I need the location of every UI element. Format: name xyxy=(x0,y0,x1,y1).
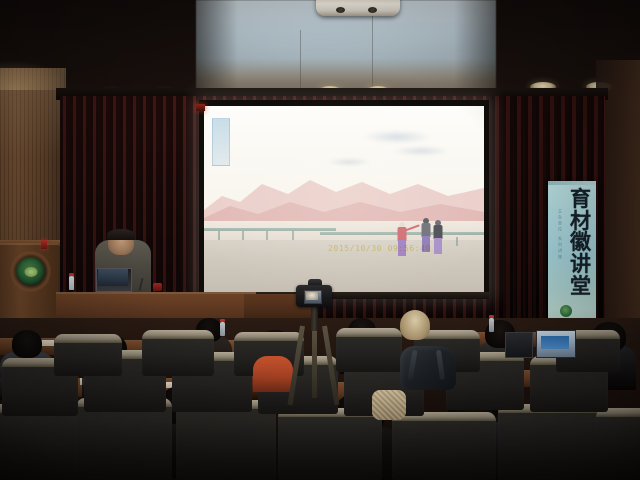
video-worker xyxy=(432,220,444,254)
wall-left-light-spill xyxy=(0,60,70,90)
bottle-cap xyxy=(69,273,74,276)
lecture-hall-photo: 2015/10/30 09:56:40 育材徽讲堂 主办单位 系列讲座 xyxy=(0,0,640,480)
banner-character-4: 堂 xyxy=(570,275,591,297)
audience-member-orange-coat xyxy=(253,356,293,392)
bottle-cap xyxy=(220,319,225,322)
chair-headrest xyxy=(54,334,122,343)
banner-logo-icon xyxy=(560,305,572,317)
water-bottle xyxy=(220,322,225,336)
video-timestamp: 2015/10/30 09:56:40 xyxy=(328,244,431,253)
video-worker-torso xyxy=(434,225,443,239)
backpack xyxy=(400,346,456,390)
bottle-cap xyxy=(489,315,494,318)
projector xyxy=(316,0,400,16)
video-worker-torso xyxy=(422,223,431,237)
auditorium-chair xyxy=(392,412,496,480)
auditorium-chair xyxy=(498,404,598,480)
knitted-bag xyxy=(372,390,406,420)
standing-banner: 育材徽讲堂 主办单位 系列讲座 xyxy=(548,181,596,329)
tripod-column xyxy=(311,305,318,331)
video-guardrail xyxy=(204,228,336,231)
auditorium-chair xyxy=(596,408,640,480)
banner-top-strip xyxy=(548,181,596,185)
chair-headrest xyxy=(142,330,214,339)
camera-lcd-preview xyxy=(306,292,318,300)
auditorium-chair xyxy=(142,330,214,376)
banner-subtitle: 主办单位 系列讲座 xyxy=(557,209,563,260)
chair-headrest xyxy=(336,328,402,337)
banner-title-characters: 育材徽讲堂 xyxy=(570,188,591,296)
audience-member-light-hair xyxy=(400,310,430,340)
institution-emblem-icon xyxy=(16,257,45,286)
banner-character-0: 育 xyxy=(570,188,591,210)
banner-character-1: 材 xyxy=(570,210,591,232)
auditorium-chair xyxy=(278,408,382,480)
projection-screen: 2015/10/30 09:56:40 xyxy=(204,106,484,292)
wall-red-light-icon xyxy=(196,104,205,111)
red-indicator-light-icon xyxy=(41,240,47,249)
audience-laptop-screen xyxy=(541,336,569,349)
audience-laptop-left xyxy=(505,332,533,358)
banner-character-2: 徽 xyxy=(570,231,591,253)
audience-member-head xyxy=(12,330,42,358)
tripod-leg xyxy=(312,326,317,398)
auditorium-chair xyxy=(336,328,402,372)
video-worker-legs xyxy=(434,238,442,254)
presenter-hair xyxy=(107,229,135,240)
chair-headrest xyxy=(234,332,304,341)
banner-character-3: 讲 xyxy=(570,253,591,275)
table-red-object xyxy=(153,283,162,291)
water-bottle xyxy=(69,276,74,290)
auditorium-chair xyxy=(54,334,122,376)
presenter-laptop-screen xyxy=(98,269,128,286)
water-bottle xyxy=(489,318,494,332)
